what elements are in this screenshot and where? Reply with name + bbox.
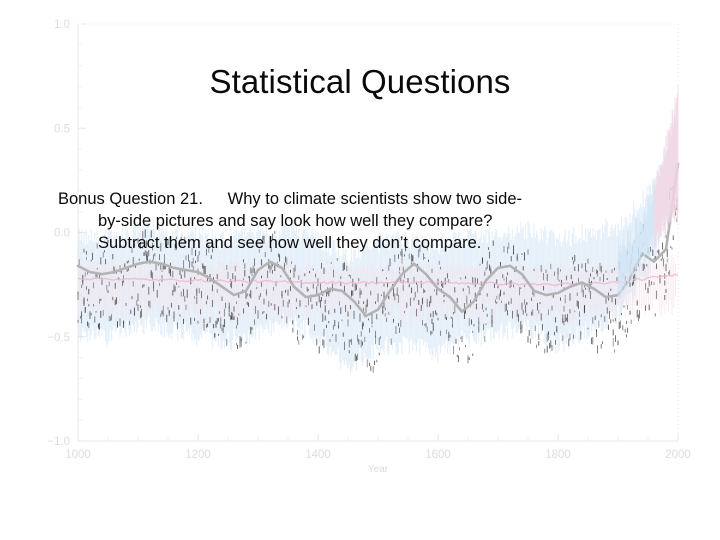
text-overlay: Statistical Questions Bonus Question 21.… xyxy=(0,0,720,540)
body-text-block: Bonus Question 21. Why to climate scient… xyxy=(58,188,658,254)
body-line-3: Subtract them and see how well they don’… xyxy=(58,232,658,254)
body-line-1: Bonus Question 21. Why to climate scient… xyxy=(58,188,658,210)
body-line-2: by-side pictures and say look how well t… xyxy=(58,210,658,232)
page-title: Statistical Questions xyxy=(0,63,720,101)
presentation-slide: −1.0−0.50.00.51.010001200140016001800200… xyxy=(0,0,720,540)
